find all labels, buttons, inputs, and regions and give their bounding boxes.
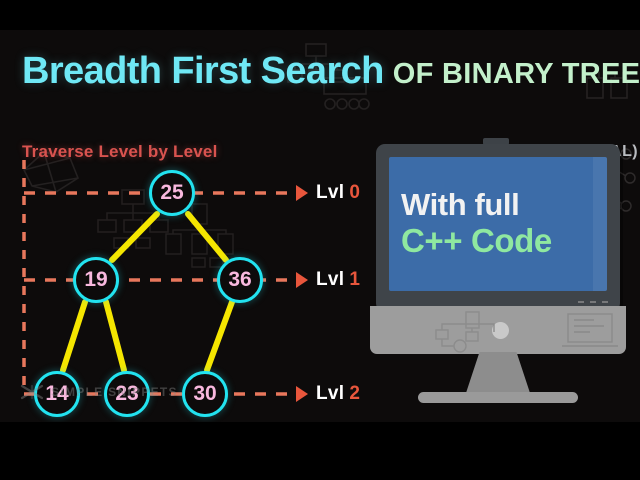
screen-text-line-2: C++ Code (401, 224, 552, 259)
slide-canvas: Breadth First Search OF BINARY TREE Trav… (0, 0, 640, 480)
tree-node-19[interactable]: 19 (73, 257, 119, 303)
level-label-1: Lvl 1 (296, 269, 360, 291)
page-title-subject: OF BINARY TREE (393, 58, 640, 91)
screen-text-line-1: With full (401, 189, 519, 222)
level-label-text: Lvl (316, 182, 344, 204)
level-label-number: 1 (349, 269, 360, 291)
edge-19-14 (63, 302, 85, 370)
monitor-screen: With full C++ Code (389, 157, 607, 291)
level-label-text: Lvl (316, 383, 344, 405)
binary-tree-diagram: 25 19 36 14 23 30 Lvl 0 (0, 128, 370, 422)
traverse-level-caption: Traverse Level by Level (22, 142, 218, 162)
level-label-number: 2 (349, 383, 360, 405)
slide-content-area: Breadth First Search OF BINARY TREE Trav… (0, 30, 640, 422)
right-arrow-icon (296, 386, 308, 402)
brand-logo: SIMPLE SNIPPETS (20, 384, 178, 400)
edge-19-23 (106, 302, 124, 370)
x-cross-logo-icon (20, 384, 44, 400)
edge-36-30 (207, 302, 232, 370)
level-label-0: Lvl 0 (296, 182, 360, 204)
brand-name: SIMPLE SNIPPETS (51, 385, 178, 399)
right-arrow-icon (296, 272, 308, 288)
page-title-main: Breadth First Search (22, 50, 384, 93)
computer-monitor-graphic: With full C++ Code (370, 138, 628, 410)
tree-node-36[interactable]: 36 (217, 257, 263, 303)
tree-node-value: 25 (160, 181, 183, 205)
edge-25-19 (112, 214, 157, 260)
monitor-bezel: With full C++ Code (376, 144, 620, 312)
edge-25-36 (188, 214, 226, 260)
monitor-base (418, 392, 578, 403)
tree-node-25[interactable]: 25 (149, 170, 195, 216)
level-label-text: Lvl (316, 269, 344, 291)
letterbox-bottom (0, 422, 640, 480)
tree-node-value: 36 (228, 268, 251, 292)
tree-node-30[interactable]: 30 (182, 371, 228, 417)
monitor-stand (465, 352, 531, 396)
tree-node-value: 19 (84, 268, 107, 292)
level-label-2: Lvl 2 (296, 383, 360, 405)
right-arrow-icon (296, 185, 308, 201)
tree-node-value: 30 (193, 382, 216, 406)
title-row: Breadth First Search OF BINARY TREE (22, 50, 640, 93)
slide-header: Breadth First Search OF BINARY TREE Trav… (0, 30, 640, 122)
level-label-number: 0 (349, 182, 360, 204)
monitor-power-indicator (492, 322, 509, 339)
letterbox-top (0, 0, 640, 30)
